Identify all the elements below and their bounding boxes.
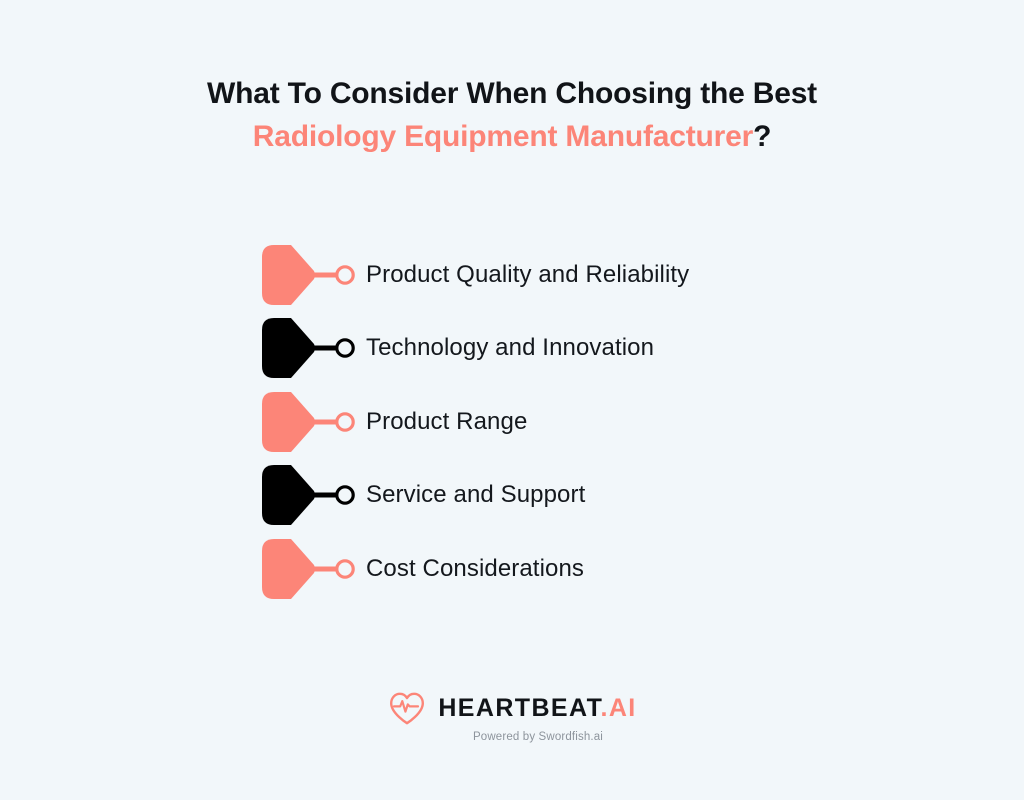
brand-footer: HEARTBEAT.AI Powered by Swordfish.ai xyxy=(0,690,1024,743)
heartbeat-pulse-icon xyxy=(387,690,427,726)
title-question-mark: ? xyxy=(753,120,771,153)
brand-tagline: Powered by Swordfish.ai xyxy=(473,731,603,743)
brand-wordmark-suffix: .AI xyxy=(600,694,636,722)
brand-lockup: HEARTBEAT.AI xyxy=(387,690,636,726)
title-highlight-text: Radiology Equipment Manufacturer xyxy=(253,120,753,153)
consideration-list: Product Quality and Reliability Technolo… xyxy=(258,238,958,606)
list-item: Product Range xyxy=(258,385,958,459)
page-title: What To Consider When Choosing the Best … xyxy=(0,72,1024,158)
list-item: Service and Support xyxy=(258,459,958,533)
pennant-marker-black xyxy=(258,316,358,380)
pennant-marker-coral xyxy=(258,243,358,307)
list-item: Product Quality and Reliability xyxy=(258,238,958,312)
list-item-label: Product Range xyxy=(366,408,527,436)
brand-wordmark-main: HEARTBEAT xyxy=(438,694,600,722)
list-item-label: Product Quality and Reliability xyxy=(366,261,689,289)
list-item-label: Service and Support xyxy=(366,481,585,509)
list-item: Technology and Innovation xyxy=(258,312,958,386)
pennant-marker-coral xyxy=(258,537,358,601)
list-item: Cost Considerations xyxy=(258,532,958,606)
brand-wordmark: HEARTBEAT.AI xyxy=(438,696,636,721)
title-line-1: What To Consider When Choosing the Best xyxy=(0,72,1024,115)
title-line-2: Radiology Equipment Manufacturer? xyxy=(0,115,1024,158)
list-item-label: Technology and Innovation xyxy=(366,334,654,362)
pennant-marker-black xyxy=(258,463,358,527)
pennant-marker-coral xyxy=(258,390,358,454)
list-item-label: Cost Considerations xyxy=(366,555,584,583)
infographic-canvas: What To Consider When Choosing the Best … xyxy=(0,0,1024,800)
